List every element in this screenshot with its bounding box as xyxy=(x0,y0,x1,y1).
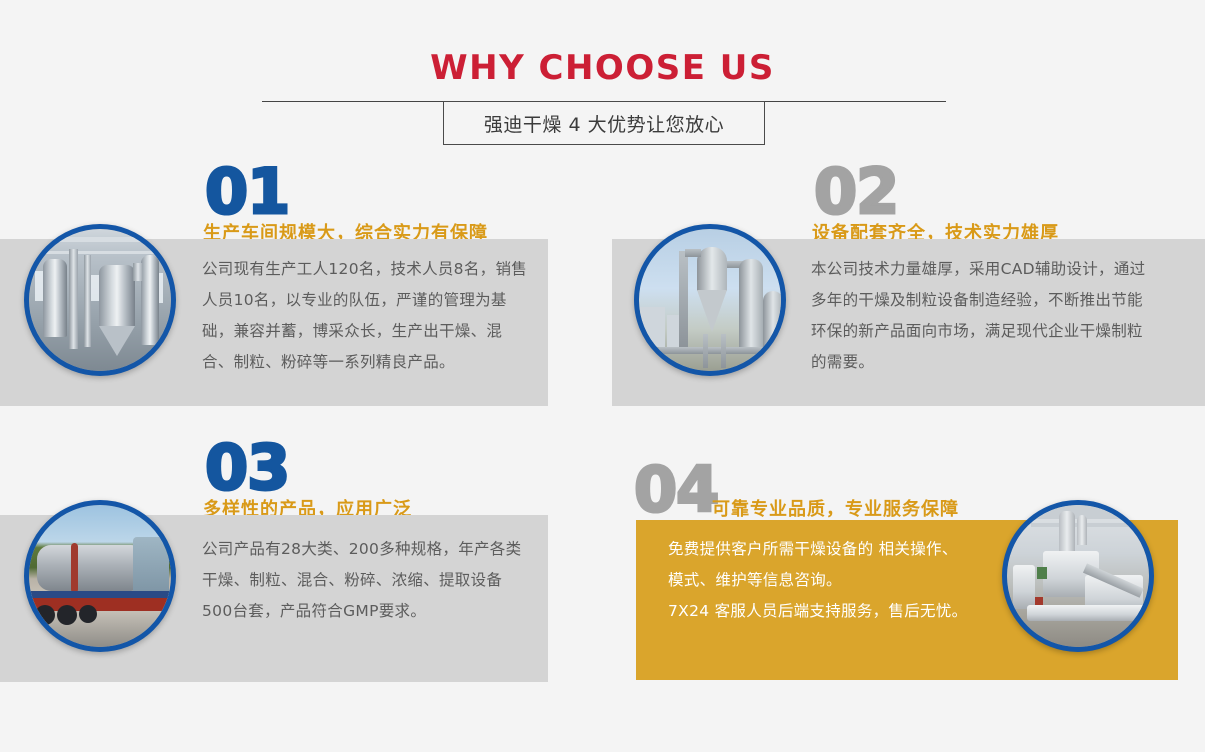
card-photo-01[interactable] xyxy=(24,224,176,376)
card-body-03: 公司产品有28大类、200多种规格，年产各类干燥、制粒、混合、粉碎、浓缩、提取设… xyxy=(202,534,522,627)
card-body-02: 本公司技术力量雄厚，采用CAD辅助设计，通过多年的干燥及制粒设备制造经验，不断推… xyxy=(811,254,1156,378)
card-body-04: 免费提供客户所需干燥设备的 相关操作、 模式、维护等信息咨询。 7X24 客服人… xyxy=(668,534,998,627)
divider-line-left xyxy=(262,101,444,102)
card-heading-04: 可靠专业品质，专业服务保障 xyxy=(712,495,959,521)
card-body-04-line-2: 模式、维护等信息咨询。 xyxy=(668,565,998,596)
card-number-01: 01 xyxy=(205,166,289,218)
header-divider: 强迪干燥 4 大优势让您放心 xyxy=(0,101,1205,145)
card-number-03: 03 xyxy=(205,442,289,494)
page-subtitle: 强迪干燥 4 大优势让您放心 xyxy=(484,110,724,137)
page-header: WHY CHOOSE US 强迪干燥 4 大优势让您放心 xyxy=(0,0,1205,160)
card-body-04-line-1: 免费提供客户所需干燥设备的 相关操作、 xyxy=(668,534,998,565)
card-photo-04[interactable] xyxy=(1002,500,1154,652)
card-photo-02[interactable] xyxy=(634,224,786,376)
card-photo-03[interactable] xyxy=(24,500,176,652)
divider-line-right xyxy=(764,101,946,102)
card-number-04: 04 xyxy=(634,464,718,516)
feature-card-03[interactable]: 03 多样性的产品，应用广泛 公司产品有28大类、200多种规格，年产各类干燥、… xyxy=(0,442,560,692)
feature-card-04[interactable]: 04 可靠专业品质，专业服务保障 免费提供客户所需干燥设备的 相关操作、 模式、… xyxy=(612,442,1205,692)
card-body-01: 公司现有生产工人120名，技术人员8名，销售人员10名，以专业的队伍，严谨的管理… xyxy=(202,254,532,378)
feature-card-01[interactable]: 01 生产车间规模大，综合实力有保障 公司现有生产工人120名，技术人员8名，销… xyxy=(0,166,560,416)
card-number-02: 02 xyxy=(814,166,898,218)
subtitle-box: 强迪干燥 4 大优势让您放心 xyxy=(443,101,765,145)
page-title: WHY CHOOSE US xyxy=(0,48,1205,88)
card-body-04-line-3: 7X24 客服人员后端支持服务，售后无忧。 xyxy=(668,596,998,627)
feature-card-02[interactable]: 02 设备配套齐全，技术实力雄厚 本公司技术力量雄厚，采用CAD辅助设计，通过多… xyxy=(612,166,1205,416)
